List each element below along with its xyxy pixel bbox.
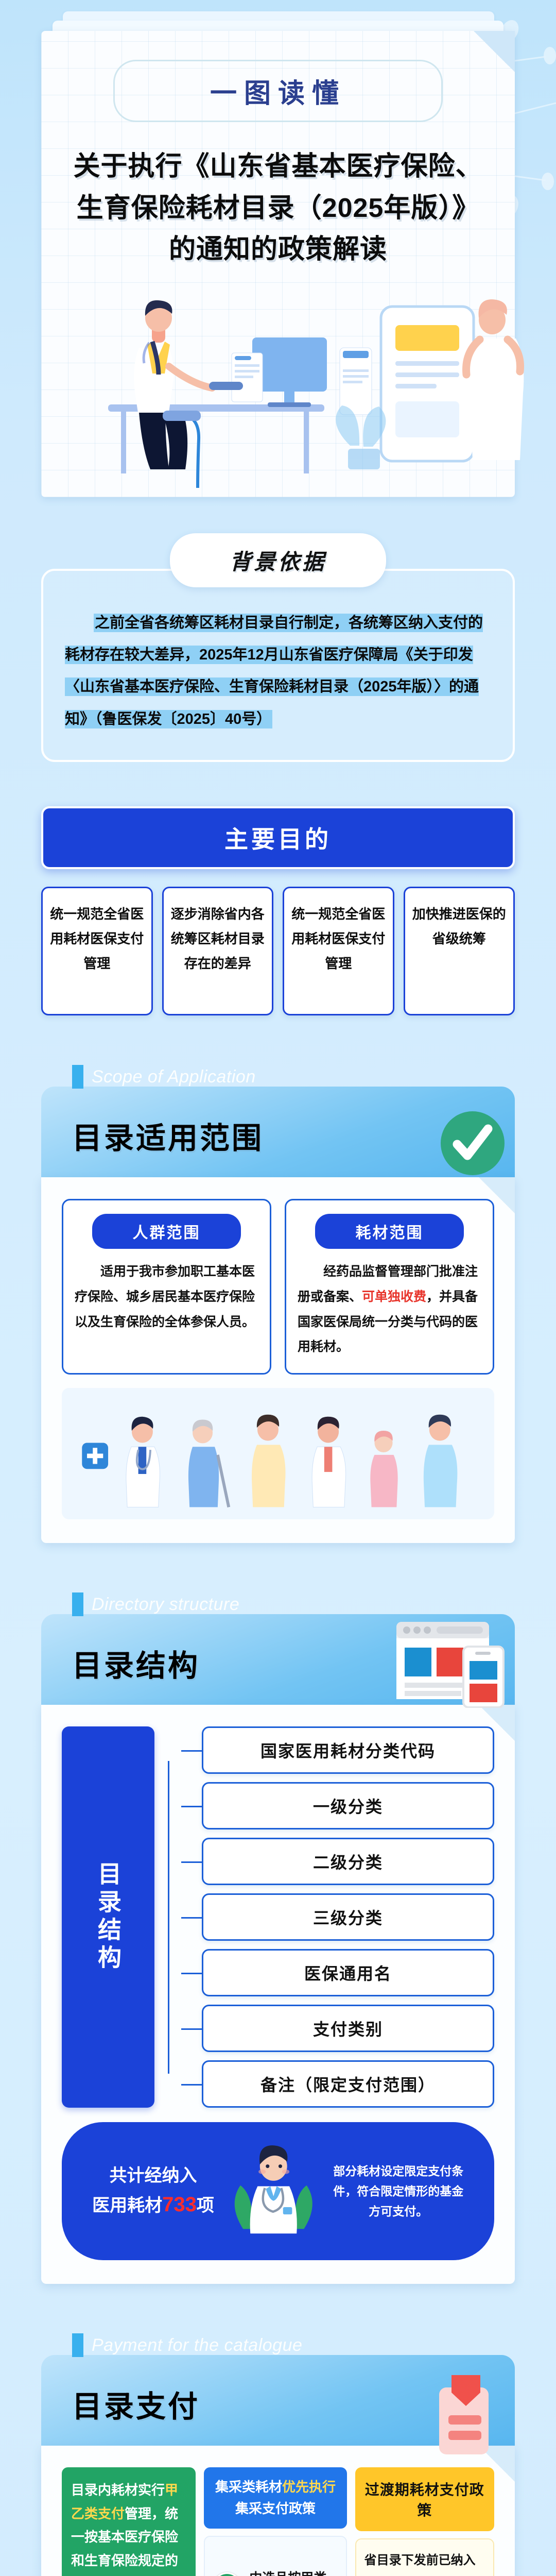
scope-header-card: 目录适用范围 [41, 1087, 515, 1184]
purpose-heading: 主要目的 [41, 806, 515, 869]
payment-body: 目录内耗材实行甲乙类支付管理，统一按基本医疗保险和生育保险规定的比例支付 乙类耗… [41, 2446, 515, 2576]
structure-en-label: Directory structure [72, 1592, 515, 1616]
background-box: 之前全省各统筹区耗材目录自行制定，各统筹区纳入支付的耗材存在较大差异，2025年… [41, 569, 515, 762]
hero-badge: 一图读懂 [113, 60, 443, 122]
background-section: 背景依据 之前全省各统筹区耗材目录自行制定，各统筹区纳入支付的耗材存在较大差异，… [41, 533, 515, 762]
hero-paper: 一图读懂 关于执行《山东省基本医疗保险、生育保险耗材目录（2025年版）》的通知… [41, 31, 515, 497]
purpose-card: 统一规范全省医用耗材医保支付管理 [41, 887, 153, 1015]
scope-tag: 人群范围 [92, 1214, 241, 1249]
payment-column-procurement: 集采类耗材优先执行集采支付政策 甲 中选品按甲类支付 乙 其他按乙类支付 [204, 2467, 346, 2576]
purpose-section: 主要目的 统一规范全省医用耗材医保支付管理 逐步消除省内各统筹区耗材目录存在的差… [0, 806, 556, 1015]
payment-header-card: 目录支付 [41, 2355, 515, 2453]
structure-item: 备注（限定支付范围） [202, 2060, 494, 2108]
check-circle-icon [432, 1103, 510, 1180]
payment-column-general: 目录内耗材实行甲乙类支付管理，统一按基本医疗保险和生育保险规定的比例支付 乙类耗… [62, 2467, 196, 2576]
hero-section: 一图读懂 关于执行《山东省基本医疗保险、生育保险耗材目录（2025年版）》的通知… [0, 0, 556, 497]
download-card-icon [420, 2372, 510, 2462]
scope-title: 目录适用范围 [72, 1114, 264, 1157]
scope-tag: 耗材范围 [315, 1214, 464, 1249]
scope-card-row: 人群范围 适用于我市参加职工基本医疗保险、城乡居民基本医疗保险以及生育保险的全体… [62, 1199, 494, 1375]
square-marker-icon [72, 1065, 83, 1089]
structure-summary-left: 共计经纳入 医用耗材733项 [90, 2163, 217, 2220]
structure-body: 目录结构 国家医用耗材分类代码 一级分类 二级分类 三级分类 医保通用名 支付类… [41, 1705, 515, 2284]
square-marker-icon [72, 2333, 83, 2357]
payment-section: Payment for the catalogue 目录支付 目录内耗材实行甲乙… [41, 2333, 515, 2576]
payment-title: 目录支付 [72, 2382, 200, 2426]
payment-transition-head: 过渡期耗材支付政策 [355, 2467, 494, 2531]
browser-window-icon [391, 1618, 510, 1708]
scope-card-consumables: 耗材范围 经药品监督管理部门批准注册或备案、可单独收费，并具备国家医保局统一分类… [285, 1199, 494, 1375]
structure-item: 支付类别 [202, 2005, 494, 2052]
hero-illustration [62, 276, 535, 497]
payment-column-transition: 过渡期耗材支付政策 省目录下发前已纳入我市支付范围的过渡期内的耗材按乙类支付，过… [355, 2467, 494, 2576]
structure-left-label: 目录结构 [62, 1726, 154, 2108]
purpose-card: 加快推进医保的省级统筹 [404, 887, 515, 1015]
structure-item: 国家医用耗材分类代码 [202, 1726, 494, 1774]
structure-item: 医保通用名 [202, 1949, 494, 1996]
scope-text: 适用于我市参加职工基本医疗保险、城乡居民基本医疗保险以及生育保险的全体参保人员。 [63, 1259, 270, 1334]
background-text: 之前全省各统筹区耗材目录自行制定，各统筹区纳入支付的耗材存在较大差异，2025年… [65, 607, 491, 735]
scope-text: 经药品监督管理部门批准注册或备案、可单独收费，并具备国家医保局统一分类与代码的医… [286, 1259, 493, 1360]
payment-en-label: Payment for the catalogue [72, 2333, 515, 2357]
structure-summary-banner: 共计经纳入 医用耗材733项 部分耗材设定限定支付条件，符合限定情形的基金方可支… [62, 2122, 494, 2260]
payment-procurement-head: 集采类耗材优先执行集采支付政策 [204, 2467, 346, 2529]
scope-body: 人群范围 适用于我市参加职工基本医疗保险、城乡居民基本医疗保险以及生育保险的全体… [41, 1177, 515, 1543]
purpose-card: 统一规范全省医用耗材医保支付管理 [283, 887, 394, 1015]
structure-title: 目录结构 [72, 1641, 200, 1685]
class-a-badge-icon: 甲 [213, 2572, 241, 2576]
structure-item: 一级分类 [202, 1782, 494, 1829]
scope-card-population: 人群范围 适用于我市参加职工基本医疗保险、城乡居民基本医疗保险以及生育保险的全体… [62, 1199, 271, 1375]
scope-en-label: Scope of Application [72, 1065, 515, 1089]
purpose-card: 逐步消除省内各统筹区耗材目录存在的差异 [162, 887, 274, 1015]
structure-item: 三级分类 [202, 1893, 494, 1941]
page-title: 关于执行《山东省基本医疗保险、生育保险耗材目录（2025年版）》的通知的政策解读 [62, 146, 494, 270]
structure-item: 二级分类 [202, 1838, 494, 1885]
structure-diagram: 目录结构 国家医用耗材分类代码 一级分类 二级分类 三级分类 医保通用名 支付类… [62, 1726, 494, 2108]
payment-row-jia-text: 中选品按甲类支付 [249, 2568, 337, 2576]
payment-transition-body: 省目录下发前已纳入我市支付范围的过渡期内的耗材按乙类支付，过渡期至2027年12… [355, 2538, 494, 2576]
purpose-card-row: 统一规范全省医用耗材医保支付管理 逐步消除省内各统筹区耗材目录存在的差异 统一规… [41, 887, 515, 1015]
payment-row-jia: 甲 中选品按甲类支付 [204, 2536, 346, 2576]
background-heading: 背景依据 [170, 533, 386, 587]
payment-grid: 目录内耗材实行甲乙类支付管理，统一按基本医疗保险和生育保险规定的比例支付 乙类耗… [62, 2467, 494, 2576]
scope-section: Scope of Application 目录适用范围 人群范围 适用于我市参加… [41, 1065, 515, 1543]
square-marker-icon [72, 1592, 83, 1616]
structure-section: Directory structure 目录结构 目录结构 国家医用耗材分类代码… [41, 1592, 515, 2284]
scope-illustration [62, 1388, 494, 1519]
hero-paper-stack: 一图读懂 关于执行《山东省基本医疗保险、生育保险耗材目录（2025年版）》的通知… [41, 31, 515, 497]
structure-summary-right: 部分耗材设定限定支付条件，符合限定情形的基金方可支付。 [330, 2161, 466, 2222]
doctor-illustration [217, 2137, 330, 2240]
structure-item-list: 国家医用耗材分类代码 一级分类 二级分类 三级分类 医保通用名 支付类别 备注（… [202, 1726, 494, 2108]
structure-header-card: 目录结构 [41, 1614, 515, 1712]
payment-general-card: 目录内耗材实行甲乙类支付管理，统一按基本医疗保险和生育保险规定的比例支付 [62, 2467, 196, 2576]
